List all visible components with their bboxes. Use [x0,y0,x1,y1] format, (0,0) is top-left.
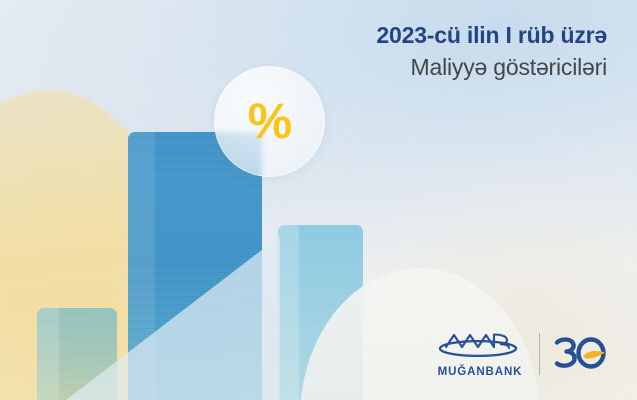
percent-icon: % [248,96,291,146]
headline-line-1: 2023-cü ilin I rüb üzrə [376,22,607,49]
percent-badge: % [214,66,325,177]
muganbank-mark-icon [434,329,526,364]
muganbank-wordmark: MUĞANBANK [438,366,523,378]
chart-bar-1-highlight [37,308,59,400]
muganbank-logo: MUĞANBANK [434,329,526,378]
anniversary-30-icon [553,334,609,374]
chart-bar-3-highlight [278,225,299,400]
headline: 2023-cü ilin I rüb üzrə Maliyyə göstəric… [376,22,607,81]
logo-divider [539,333,540,375]
financial-results-banner: % 2023-cü ilin I rüb üzrə Maliyyə göstər… [0,0,637,400]
logo-lockup: MUĞANBANK [434,329,609,378]
headline-line-2: Maliyyə göstəriciləri [376,54,607,81]
